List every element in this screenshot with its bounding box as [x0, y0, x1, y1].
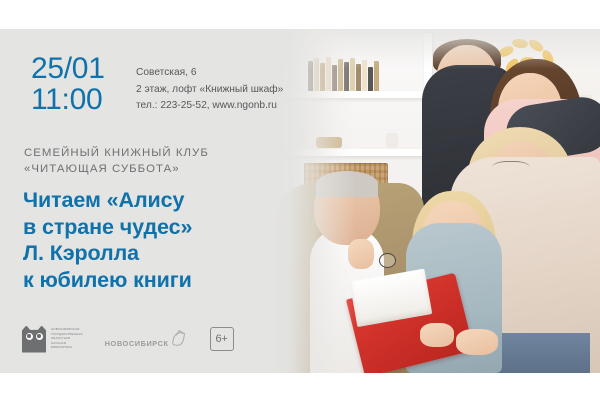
club-name: СЕМЕЙНЫЙ КНИЖНЫЙ КЛУБ «ЧИТАЮЩАЯ СУББОТА» [24, 145, 209, 177]
event-headline: Читаем «Алису в стране чудес» Л. Кэролла… [23, 187, 192, 293]
venue-contact: тел.: 223-25-52, www.ngonb.ru [136, 98, 283, 115]
grandfather-hand [348, 239, 374, 269]
library-name-line: НОВОСИБИРСКАЯ [51, 328, 83, 331]
owl-eye-right [36, 333, 43, 340]
city-logo-label: НОВОСИБИРСК [105, 339, 169, 348]
shelf-jar [298, 129, 307, 147]
footer-logos: НОВОСИБИРСКАЯ ГОСУДАРСТВЕННАЯ ОБЛАСТНАЯ … [22, 323, 234, 355]
sparrow-bird-icon [171, 331, 184, 346]
library-name: НОВОСИБИРСКАЯ ГОСУДАРСТВЕННАЯ ОБЛАСТНАЯ … [51, 328, 83, 350]
shelf-box [316, 137, 342, 148]
grandfather-hair [316, 171, 378, 197]
event-date: 25/01 [31, 53, 105, 84]
photo-scene [270, 29, 600, 373]
event-time: 11:00 [31, 84, 105, 115]
venue-floor: 2 этаж, лофт «Книжный шкаф» [136, 82, 283, 99]
grandmother-glasses-icon [492, 161, 530, 177]
library-logo: НОВОСИБИРСКАЯ ГОСУДАРСТВЕННАЯ ОБЛАСТНАЯ … [22, 326, 83, 353]
shelf-board [286, 91, 428, 98]
shelf-board [286, 149, 428, 156]
family-reading-photo [270, 29, 600, 373]
club-name-line1: СЕМЕЙНЫЙ КНИЖНЫЙ КЛУБ [24, 145, 209, 161]
event-poster: 25/01 11:00 Советская, 6 2 этаж, лофт «К… [0, 29, 600, 373]
owl-eye-left [26, 333, 33, 340]
girl-hand [420, 323, 454, 347]
shelf-books [308, 57, 379, 91]
club-name-line2: «ЧИТАЮЩАЯ СУББОТА» [24, 161, 209, 177]
grandmother-hand [456, 329, 498, 355]
screenshot-canvas: 25/01 11:00 Советская, 6 2 этаж, лофт «К… [0, 0, 600, 400]
library-name-line: БИБЛИОТЕКА [51, 346, 83, 349]
city-logo: НОВОСИБИРСК [105, 331, 184, 348]
venue-street: Советская, 6 [136, 65, 283, 82]
venue-info: Советская, 6 2 этаж, лофт «Книжный шкаф»… [136, 65, 283, 115]
shelf-jar [386, 133, 398, 148]
owl-icon [22, 326, 46, 353]
age-rating-badge: 6+ [210, 327, 234, 351]
event-datetime: 25/01 11:00 [31, 53, 105, 115]
